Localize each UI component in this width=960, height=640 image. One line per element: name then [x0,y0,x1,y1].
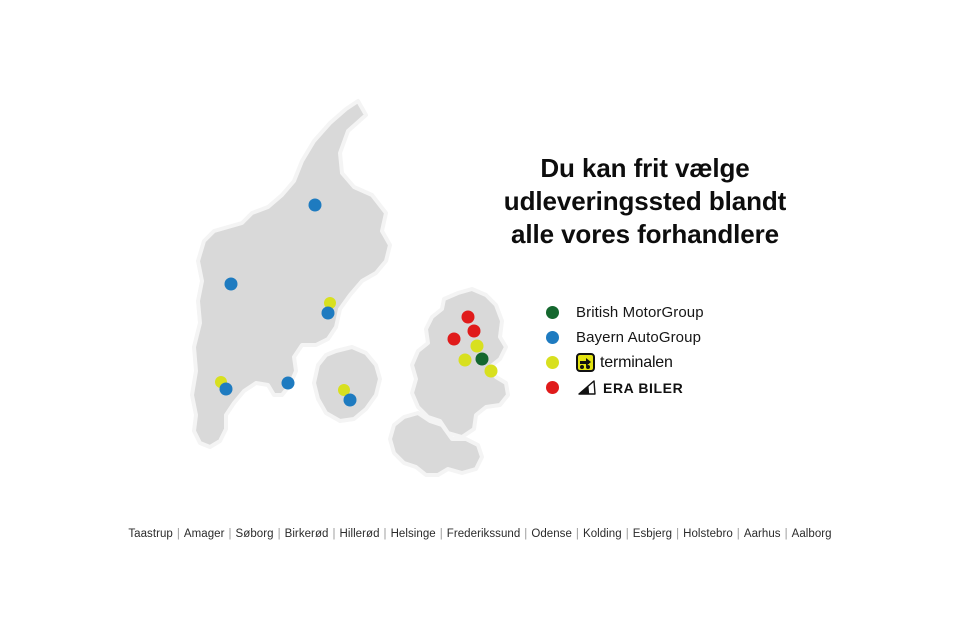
map-marker-amager[interactable] [485,365,498,378]
city-item: Søborg [236,528,274,540]
city-item: Aarhus [744,528,781,540]
legend-dot-red [546,381,559,394]
city-separator: | [781,528,792,540]
city-item: Birkerød [285,528,329,540]
map-landmasses [192,101,508,475]
legend-label-terminalen: terminalen [600,354,673,372]
map-marker-aarhus-bayern[interactable] [322,307,335,320]
city-item: Kolding [583,528,622,540]
era-triangle-icon [576,379,598,397]
city-item: Helsinge [391,528,436,540]
city-separator: | [225,528,236,540]
city-item: Amager [184,528,225,540]
city-item: Odense [531,528,572,540]
legend-item-terminalen[interactable]: terminalen [546,350,806,375]
city-separator: | [733,528,744,540]
city-separator: | [380,528,391,540]
legend-dot-yellow [546,356,559,369]
city-item: Frederikssund [447,528,521,540]
legend-dot-blue [546,331,559,344]
headline-line-3: alle vores forhandlere [470,218,820,251]
city-separator: | [622,528,633,540]
city-separator: | [520,528,531,540]
city-list: Taastrup|Amager|Søborg|Birkerød|Hillerød… [0,528,960,540]
legend-label-era-biler: ERA BILER [603,380,683,396]
terminalen-logo: terminalen [576,353,673,372]
map-marker-kolding[interactable] [282,377,295,390]
map-marker-helsinge[interactable] [462,311,475,324]
terminalen-arrow-icon [576,353,595,372]
map-marker-holstebro[interactable] [225,278,238,291]
poster-canvas: Du kan frit vælge udleveringssted blandt… [0,0,960,640]
legend-item-british-motorgroup[interactable]: British MotorGroup [546,300,806,325]
brand-legend: British MotorGroup Bayern AutoGroup term… [546,300,806,400]
map-marker-aalborg[interactable] [309,199,322,212]
city-item: Taastrup [128,528,173,540]
city-item: Aalborg [792,528,832,540]
city-item: Holstebro [683,528,733,540]
map-marker-soborg[interactable] [476,353,489,366]
legend-label-british-motorgroup: British MotorGroup [576,304,704,321]
city-separator: | [572,528,583,540]
city-separator: | [436,528,447,540]
legend-item-bayern-autogroup[interactable]: Bayern AutoGroup [546,325,806,350]
legend-dot-green [546,306,559,319]
city-separator: | [672,528,683,540]
city-separator: | [328,528,339,540]
legend-item-era-biler[interactable]: ERA BILER [546,375,806,400]
map-marker-esbjerg-bayern[interactable] [220,383,233,396]
headline: Du kan frit vælge udleveringssted blandt… [470,152,820,251]
map-marker-odense-bayern[interactable] [344,394,357,407]
headline-line-2: udleveringssted blandt [470,185,820,218]
map-marker-birkerod[interactable] [471,340,484,353]
era-biler-logo: ERA BILER [576,379,683,397]
city-separator: | [173,528,184,540]
landmass-funen [314,347,380,421]
map-marker-frederikssund[interactable] [448,333,461,346]
city-item: Esbjerg [633,528,672,540]
city-separator: | [274,528,285,540]
legend-label-bayern-autogroup: Bayern AutoGroup [576,329,701,346]
headline-line-1: Du kan frit vælge [470,152,820,185]
map-marker-hillerod[interactable] [468,325,481,338]
city-item: Hillerød [340,528,380,540]
map-marker-taastrup[interactable] [459,354,472,367]
